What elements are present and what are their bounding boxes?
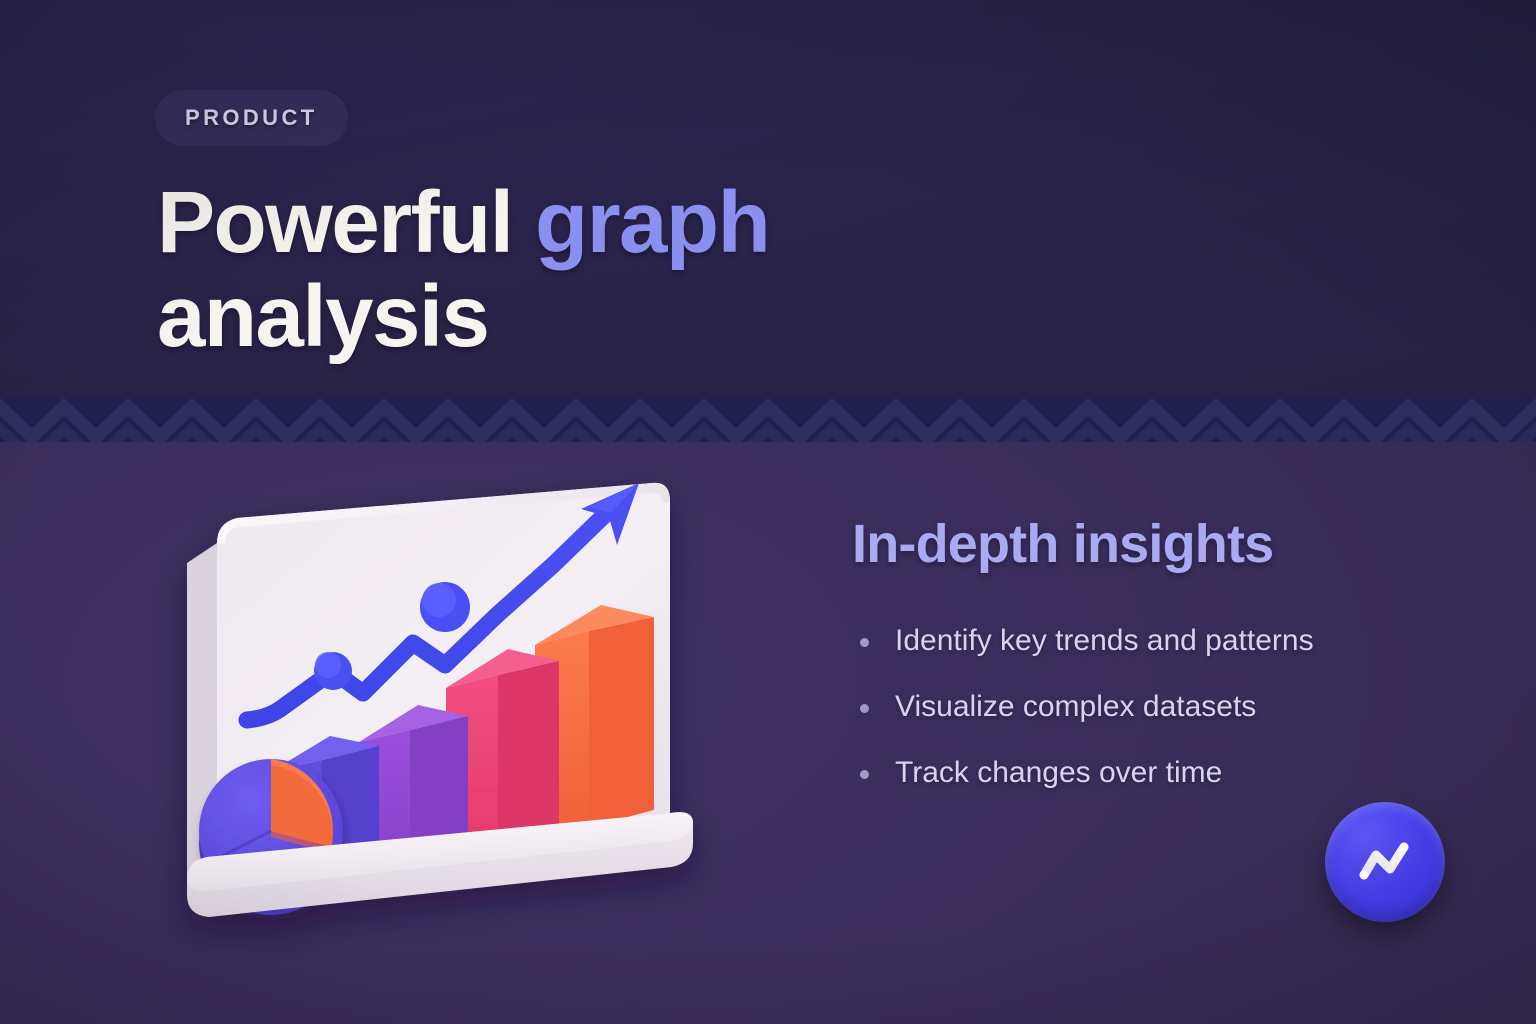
bar-chart-illustration xyxy=(165,465,785,955)
page-title: Powerful graph analysis xyxy=(157,176,917,364)
list-item-label: Track changes over time xyxy=(895,756,1222,789)
zigzag-divider-band xyxy=(0,397,1536,442)
brand-logo-badge[interactable] xyxy=(1325,802,1445,922)
trend-line-icon xyxy=(1350,827,1420,897)
bullet-dot-icon xyxy=(860,770,869,779)
product-badge-label: PRODUCT xyxy=(185,105,318,131)
headline-line2: analysis xyxy=(157,268,488,365)
list-item: Visualize complex datasets xyxy=(855,686,1475,728)
list-item-label: Visualize complex datasets xyxy=(895,690,1256,723)
list-item-label: Identify key trends and patterns xyxy=(895,624,1314,657)
bullet-dot-icon xyxy=(860,704,869,713)
product-badge: PRODUCT xyxy=(155,90,348,146)
insights-heading: In-depth insights xyxy=(852,513,1273,575)
headline-line1-plain: Powerful xyxy=(157,174,535,271)
list-item: Track changes over time xyxy=(855,752,1475,794)
bullet-dot-icon xyxy=(860,638,869,647)
list-item: Identify key trends and patterns xyxy=(855,620,1475,662)
insights-list: Identify key trends and patterns Visuali… xyxy=(855,620,1475,818)
slide-canvas: PRODUCT Powerful graph analysis In-depth… xyxy=(0,0,1536,1024)
headline-line1-accent: graph xyxy=(535,174,769,271)
